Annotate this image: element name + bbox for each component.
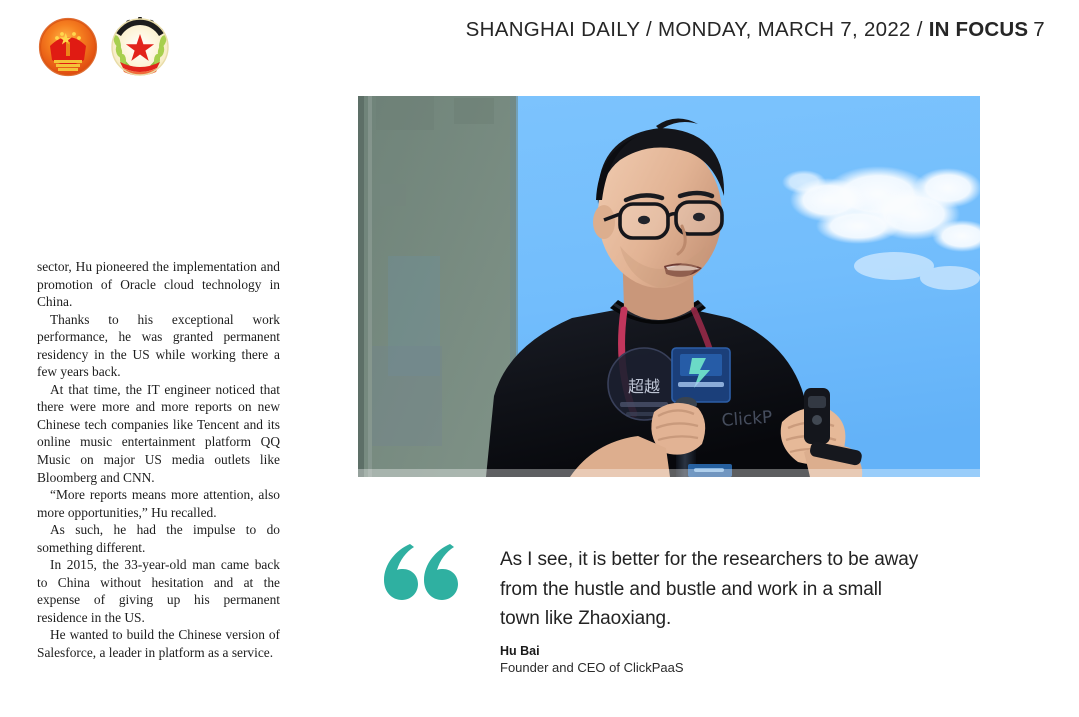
article-paragraph: He wanted to build the Chinese version o…	[37, 626, 280, 661]
emblem-group	[38, 16, 170, 78]
quote-body: As I see, it is better for the researche…	[500, 545, 920, 676]
publication-name: SHANGHAI DAILY	[466, 18, 640, 41]
quote-open-mark-icon	[380, 542, 458, 604]
section-name: IN FOCUS	[929, 18, 1029, 41]
cppcc-emblem-icon	[110, 16, 170, 78]
masthead-date: MONDAY, MARCH 7, 2022	[658, 18, 911, 41]
article-body-column: sector, Hu pioneered the implementation …	[37, 258, 280, 662]
article-paragraph: sector, Hu pioneered the implementation …	[37, 258, 280, 311]
quote-text: As I see, it is better for the researche…	[500, 545, 920, 634]
article-paragraph: Thanks to his exceptional work performan…	[37, 311, 280, 381]
speaker-photo: 超越 ClickP	[358, 96, 980, 477]
masthead-headline: SHANGHAI DAILY / MONDAY, MARCH 7, 2022 /…	[466, 18, 1045, 42]
article-paragraph: At that time, the IT engineer noticed th…	[37, 381, 280, 486]
masthead: SHANGHAI DAILY / MONDAY, MARCH 7, 2022 /…	[0, 0, 1079, 92]
national-emblem-of-china-icon	[38, 16, 98, 78]
svg-text:ClickP: ClickP	[721, 407, 773, 430]
article-paragraph: In 2015, the 33-year-old man came back t…	[37, 556, 280, 626]
masthead-separator-2: /	[911, 18, 929, 41]
svg-text:超越: 超越	[628, 377, 660, 396]
article-paragraph: As such, he had the impulse to do someth…	[37, 521, 280, 556]
attribution-role: Founder and CEO of ClickPaaS	[500, 659, 920, 676]
article-paragraph: “More reports means more attention, also…	[37, 486, 280, 521]
quote-attribution: Hu Bai Founder and CEO of ClickPaaS	[500, 643, 920, 676]
page-number: 7	[1033, 18, 1045, 41]
masthead-separator-1: /	[640, 18, 658, 41]
attribution-name: Hu Bai	[500, 643, 920, 659]
